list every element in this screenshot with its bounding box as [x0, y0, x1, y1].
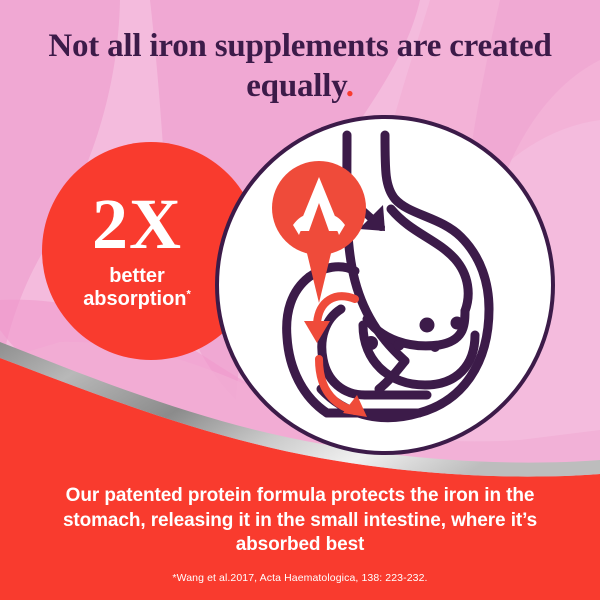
badge-multiplier: 2X: [92, 190, 182, 258]
badge-asterisk: *: [187, 289, 191, 301]
nutrient-dot: [430, 342, 440, 352]
nutrient-dot: [420, 318, 435, 333]
pin-head: [272, 161, 366, 255]
nutrient-dot: [451, 317, 464, 330]
headline: Not all iron supplements are created equ…: [0, 26, 600, 107]
badge-label-better: better: [109, 265, 165, 289]
nutrient-dot: [394, 340, 405, 351]
citation-text: *Wang et al.2017, Acta Haematologica, 13…: [172, 572, 427, 584]
bottom-body-text: Our patented protein formula protects th…: [30, 484, 570, 558]
headline-line-1: Not all iron supplements are created: [48, 28, 551, 64]
nutrient-dot: [364, 336, 378, 350]
infographic-canvas: Not all iron supplements are created equ…: [0, 0, 600, 600]
bottom-message-panel: Our patented protein formula protects th…: [0, 470, 600, 600]
badge-absorption-text: absorption: [83, 288, 186, 310]
badge-label-absorption: absorption*: [83, 288, 191, 312]
headline-line-2: equally: [246, 68, 345, 104]
headline-period: .: [346, 68, 354, 104]
stomach-illustration: [213, 113, 557, 457]
